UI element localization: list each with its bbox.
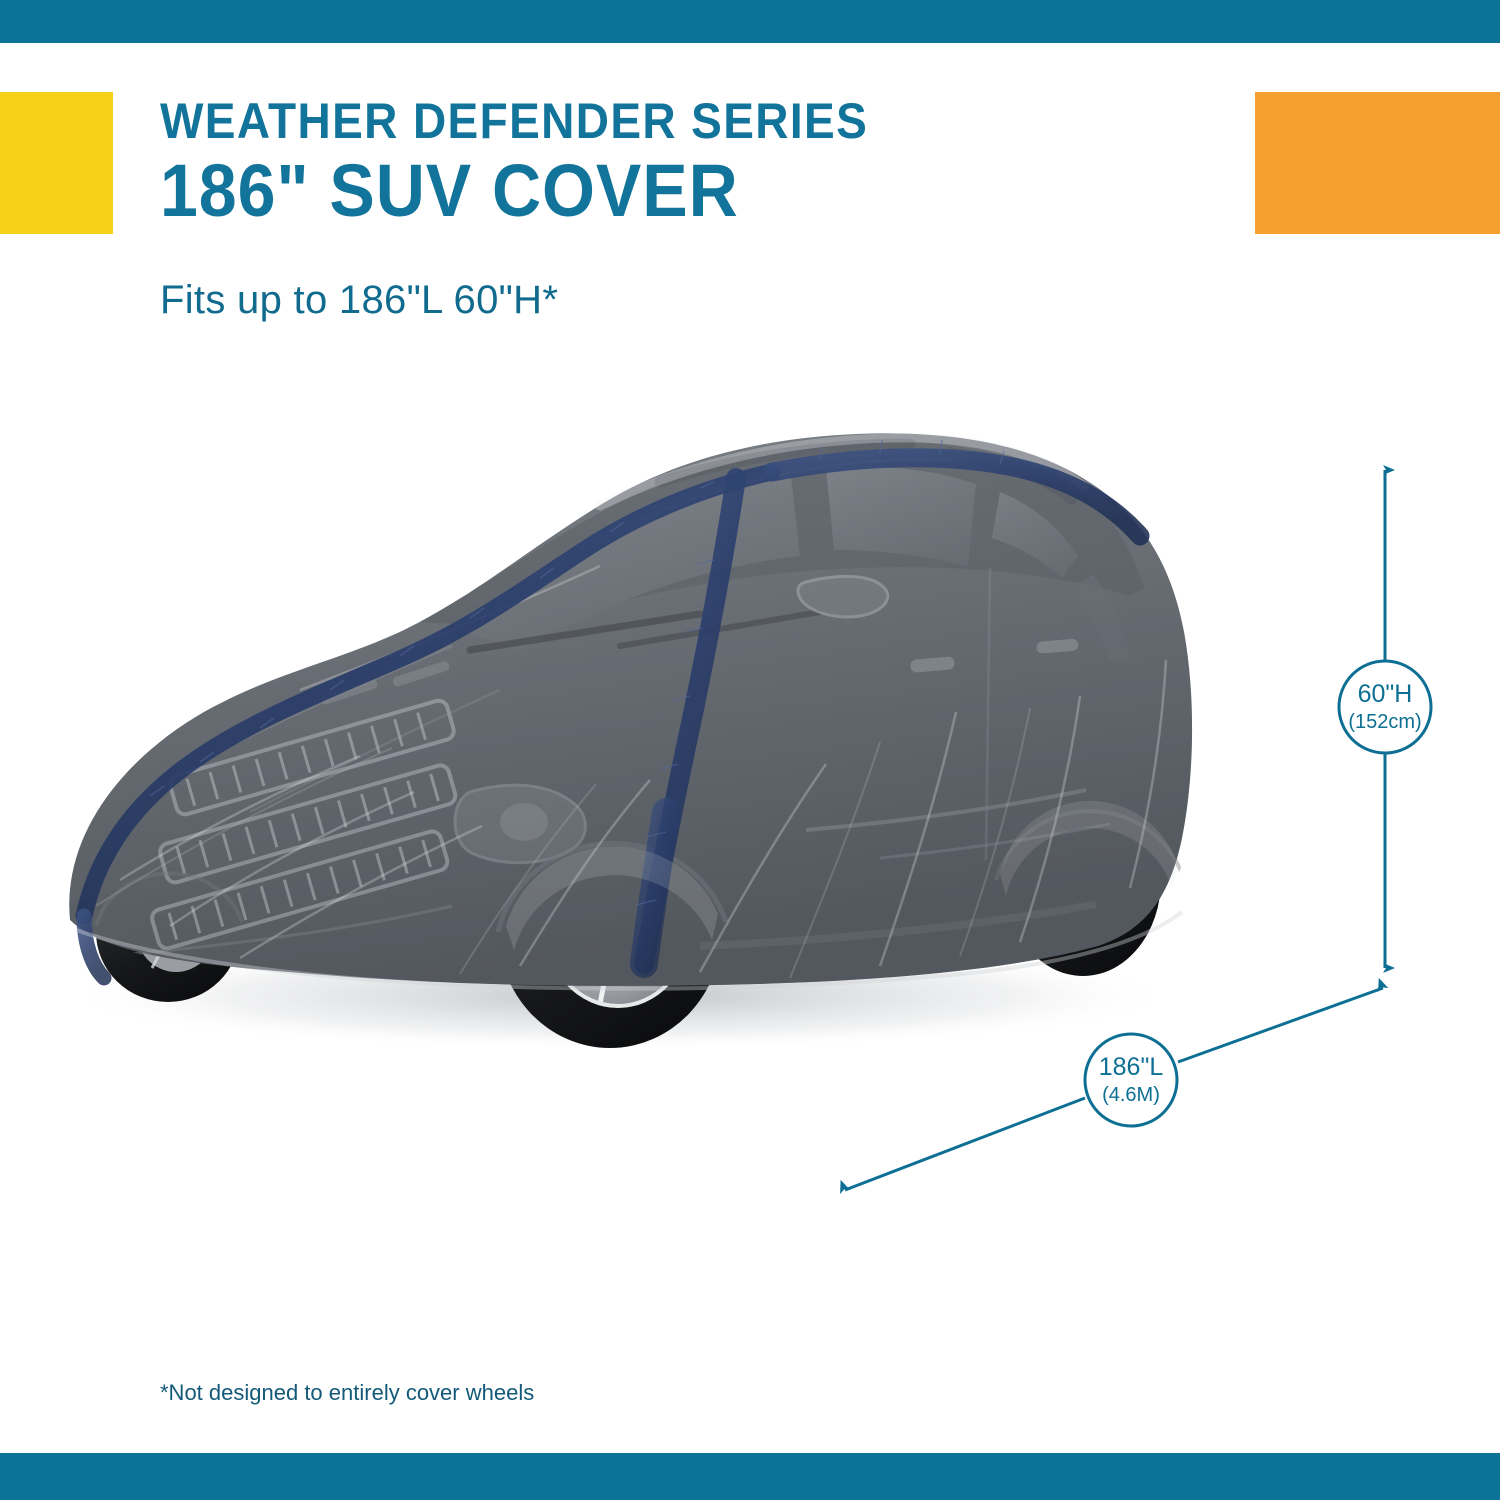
car-cover bbox=[69, 433, 1192, 988]
page-title: 186" SUV COVER bbox=[160, 152, 1154, 230]
top-accent-bar bbox=[0, 0, 1500, 43]
fits-subtitle: Fits up to 186"L 60"H* bbox=[160, 278, 558, 323]
series-kicker: WEATHER DEFENDER SERIES bbox=[160, 96, 1154, 146]
header-block: WEATHER DEFENDER SERIES 186" SUV COVER bbox=[160, 96, 1240, 230]
product-infographic: WEATHER DEFENDER SERIES 186" SUV COVER F… bbox=[0, 0, 1500, 1500]
height-value: 60"H bbox=[1358, 680, 1413, 708]
orange-accent-block bbox=[1255, 92, 1500, 234]
bottom-accent-bar bbox=[0, 1453, 1500, 1500]
vehicle-illustration bbox=[0, 360, 1360, 1150]
yellow-accent-block bbox=[0, 92, 113, 234]
footnote-text: *Not designed to entirely cover wheels bbox=[160, 1380, 534, 1406]
